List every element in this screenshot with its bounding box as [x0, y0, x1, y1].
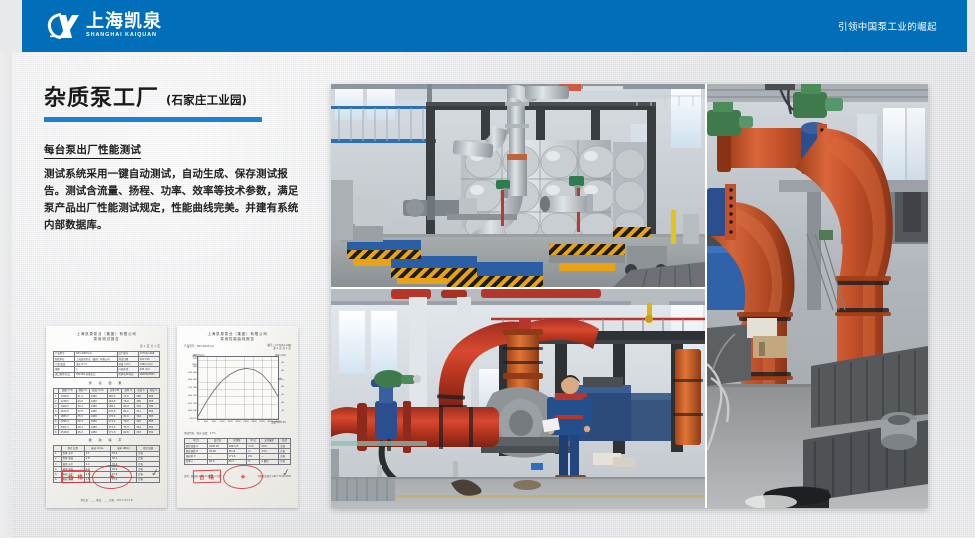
- doc2-summary-table: 项 目设计值实测值单 位允许偏差结论 额定流量 Q2000.002063.25m…: [184, 438, 291, 465]
- doc2-stamp-row: 合 格 ✓: [179, 464, 296, 490]
- curve-x-tick: 2000: [235, 421, 240, 423]
- doc2-signature: ✓: [281, 467, 291, 479]
- table-cell: 171.8: [107, 430, 122, 435]
- curve-x-tick: 4000: [275, 421, 280, 423]
- table-row: 进口管径/出口DN 250 标准出口电机功率/电压160kW/380V: [54, 372, 160, 377]
- doc1-footer: 测试员：___ 审核：___ 日期：2017-05-18: [48, 498, 165, 502]
- slide-root: 上海凯泉 SHANGHAI KAIQUAN 引领中国泵工业的崛起 杂质泵工厂 (…: [0, 0, 975, 550]
- table-cell: 69.8: [122, 430, 135, 435]
- doc1-company-seal-stamp: [91, 464, 132, 490]
- doc2-page-meta: 第 1 页 共 1 页: [273, 347, 291, 350]
- curve-y-tick: 500 (28): [187, 403, 197, 405]
- kaiquan-logo-icon: [46, 11, 80, 41]
- table-cell: 382: [147, 430, 159, 435]
- curve-r-tick: 60: [281, 386, 284, 388]
- table-cell: 323: [135, 430, 147, 435]
- curve-x-tick: 800: [212, 421, 216, 423]
- curve-y-tick: 300 (1): [187, 418, 197, 420]
- body-heading: 每台泵出厂性能测试: [44, 142, 141, 159]
- curve-y-tick: 600 (32): [187, 395, 197, 397]
- curve-r-tick: 效率 η: [278, 378, 284, 381]
- curve-y-tick: 400 (24): [187, 410, 197, 412]
- table-cell: 1480: [89, 430, 107, 435]
- performance-curve-chart: 扬程 H(m) 效率 η(%) 流量 Q(m³/h) 1050 (52)1000…: [197, 356, 279, 420]
- doc2-caption: 测试介质：清水 温度：17℃: [184, 431, 291, 435]
- brand-logo[interactable]: 上海凯泉 SHANGHAI KAIQUAN: [46, 11, 162, 41]
- doc1-section2-label: 振 动 噪 声: [53, 438, 160, 442]
- curve-x-tick: 3200: [259, 421, 264, 423]
- curve-y-tick: 1050 (52): [187, 356, 197, 360]
- curve-r-tick: 40: [281, 402, 284, 404]
- doc1-section1-label: 测 试 结 果: [53, 381, 160, 385]
- doc2-header: 上海凯泉泵业（集团）有限公司 泵用性能曲线报告: [184, 332, 291, 343]
- doc1-results-table: 流量 m³/h扬程 m转速 r/min功率 kW效率 %电流 A电压 V 110…: [53, 388, 160, 436]
- curve-y-tick: 800 (40): [187, 379, 197, 381]
- curve-y-tick: 900 (44): [187, 372, 197, 374]
- curve-plot-svg: [198, 357, 278, 419]
- table-row: 82518.825.01480171.869.8323382: [54, 430, 160, 435]
- slide-bottom-margin: [0, 538, 975, 550]
- curve-r-tick: 30: [281, 410, 284, 412]
- photo-collage: [331, 84, 928, 508]
- brand-name-cn: 上海凯泉: [86, 13, 162, 31]
- table-cell: DN 250 标准出口: [75, 372, 117, 377]
- doc1-page-meta: 第 1 页 共 1 页: [53, 344, 160, 348]
- curve-r-tick: 90: [281, 362, 284, 364]
- curve-r-tick: 50: [281, 394, 284, 396]
- header-bar: 上海凯泉 SHANGHAI KAIQUAN 引领中国泵工业的崛起: [0, 0, 975, 52]
- curve-y-tick: 1000 (48): [187, 364, 197, 368]
- curve-x-tick: 1600: [227, 421, 232, 423]
- photo-factory-red-pipe-test-rig[interactable]: [331, 289, 705, 508]
- table-cell: 2518.8: [59, 430, 76, 435]
- curve-x-tick: 2400: [243, 421, 248, 423]
- page-title: 杂质泵工厂 (石家庄工业园): [44, 88, 312, 110]
- header-left-spacer: [0, 0, 22, 52]
- doc2-pass-stamp: 合 格: [193, 470, 221, 484]
- curve-x-tick: 1200: [219, 421, 224, 423]
- curve-x-tick: 3600: [267, 421, 272, 423]
- page-title-sub: (石家庄工业园): [166, 92, 247, 110]
- photo-orange-vertical-pipes[interactable]: [707, 84, 928, 508]
- doc1-signature: ✓: [150, 467, 160, 479]
- doc1-header: 上海凯泉泵业（集团）有限公司 泵用测试报告: [53, 332, 160, 343]
- curve-x-tick: 0: [197, 421, 198, 423]
- header-tagline: 引领中国泵工业的崛起: [838, 19, 937, 33]
- doc1-pass-stamp: 合 格: [62, 470, 90, 484]
- page-title-main: 杂质泵工厂: [44, 88, 159, 110]
- doc2-report-title: 泵用性能曲线报告: [184, 337, 291, 342]
- text-column: 杂质泵工厂 (石家庄工业园) 每台泵出厂性能测试 测试系统采用一键自动测试，自动…: [44, 88, 312, 234]
- doc-thumb-test-report[interactable]: 上海凯泉泵业（集团）有限公司 泵用测试报告 第 1 页 共 1 页 产品型号NS…: [46, 326, 167, 508]
- doc-thumb-performance-curve[interactable]: 上海凯泉泵业（集团）有限公司 泵用性能曲线报告 产品型号：NSY-2000 (A…: [177, 326, 298, 508]
- curve-x-tick: 400: [204, 421, 208, 423]
- photo-factory-test-hall-tanks[interactable]: [331, 84, 705, 287]
- doc1-report-title: 泵用测试报告: [53, 337, 160, 342]
- body-paragraph: 测试系统采用一键自动测试，自动生成、保存测试报告。测试含流量、扬程、功率、效率等…: [44, 166, 300, 234]
- doc1-stamp-row: 合 格 ✓: [48, 464, 165, 490]
- curve-y-tick: 700 (36): [187, 387, 197, 389]
- doc2-company-seal-stamp: [222, 464, 263, 490]
- curve-r-tick: 80: [281, 370, 284, 372]
- document-thumbnails: 上海凯泉泵业（集团）有限公司 泵用测试报告 第 1 页 共 1 页 产品型号NS…: [46, 326, 298, 508]
- body-block: 每台泵出厂性能测试 测试系统采用一键自动测试，自动生成、保存测试报告。测试含流量…: [44, 138, 312, 234]
- curve-x-tick: 2800: [251, 421, 256, 423]
- title-underline-rule: [44, 117, 262, 122]
- doc1-info-table: 产品型号NSY-2000 (A)出厂编号13701A-006制造单位上海凯泉泵业…: [53, 351, 160, 378]
- brand-name-en: SHANGHAI KAIQUAN: [86, 33, 162, 39]
- table-cell: 进口管径/出口: [54, 372, 75, 377]
- table-cell: 电机功率/电压: [117, 372, 138, 377]
- table-cell: 25.0: [76, 430, 89, 435]
- doc2-model-meta: 产品型号：NSY-2000 (A): [184, 344, 214, 351]
- header-right-spacer: [967, 0, 975, 52]
- slide-background-left-edge: [0, 52, 12, 538]
- table-cell: 160kW/380V: [138, 372, 159, 377]
- brand-logo-text: 上海凯泉 SHANGHAI KAIQUAN: [86, 13, 162, 39]
